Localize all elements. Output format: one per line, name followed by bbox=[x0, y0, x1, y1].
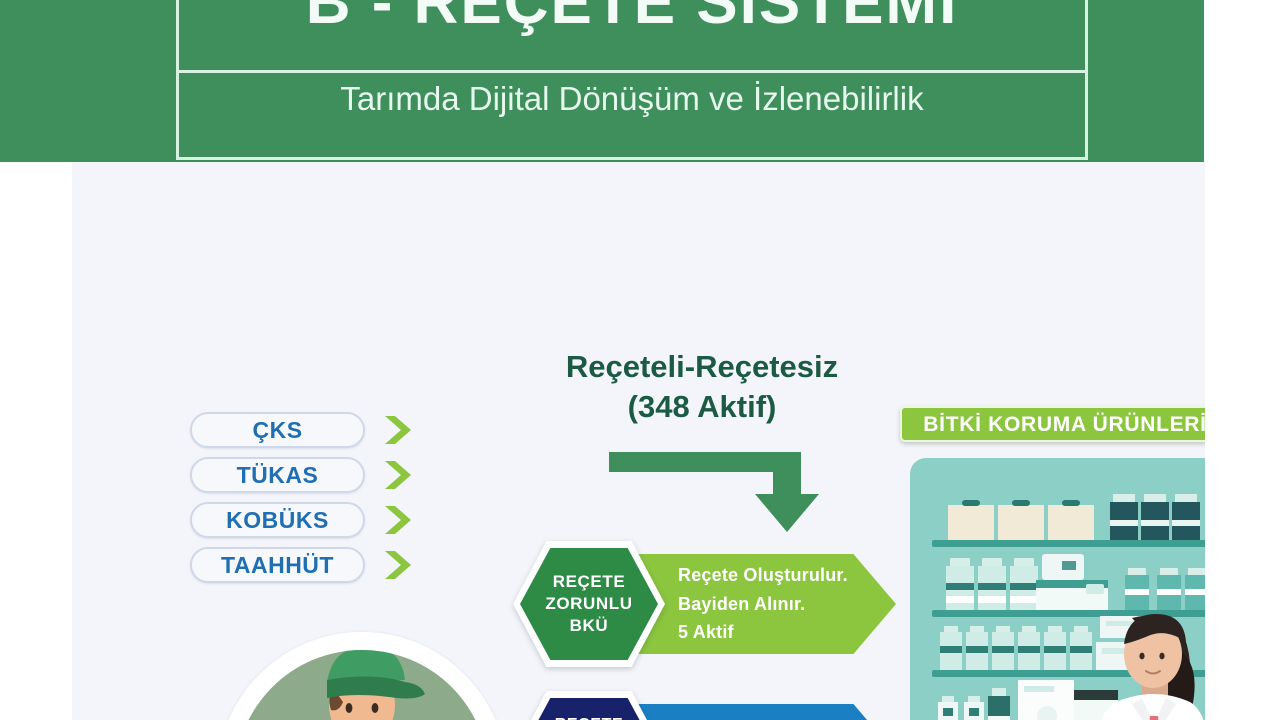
systems-pill-list: ÇKS TÜKAS KOBÜKS bbox=[190, 412, 440, 592]
content-area: ÇKS TÜKAS KOBÜKS bbox=[72, 162, 1205, 720]
farmer-svg bbox=[217, 632, 507, 720]
list-item[interactable]: TÜKAS bbox=[190, 457, 440, 495]
flow-banner-body: Reçete Oluşturulur. Bayiden Alınır. 5 Ak… bbox=[630, 554, 896, 654]
badge-line: ZORUNLU bbox=[545, 593, 632, 615]
badge-line: REÇETE bbox=[548, 715, 630, 720]
header-divider-line bbox=[176, 70, 1088, 73]
center-heading: Reçeteli-Reçetesiz (348 Aktif) bbox=[472, 347, 932, 426]
header-banner: B - REÇETE SİSTEMİ Tarımda Dijital Dönüş… bbox=[0, 0, 1204, 162]
flow-banner-receteli[interactable]: Reçete Oluşturulur. Bayiden Alınır. 5 Ak… bbox=[520, 548, 900, 660]
flow-text-line: 5 Aktif bbox=[678, 618, 848, 647]
flow-badge-label: REÇETE ZORUNLU DEĞİL BKÜ bbox=[548, 715, 630, 720]
status-badge-bitki-koruma: BİTKİ KORUMA ÜRÜNLERİ bbox=[900, 406, 1205, 442]
infographic-canvas: B - REÇETE SİSTEMİ Tarımda Dijital Dönüş… bbox=[0, 0, 1280, 720]
list-item[interactable]: KOBÜKS bbox=[190, 502, 440, 540]
center-heading-line2: (348 Aktif) bbox=[472, 387, 932, 427]
farmer-with-basket-illustration bbox=[217, 632, 507, 720]
sidebar-item-tukas[interactable]: TÜKAS bbox=[190, 457, 365, 493]
chevron-right-icon bbox=[383, 549, 417, 581]
badge-line: REÇETE bbox=[545, 571, 632, 593]
page-title: B - REÇETE SİSTEMİ bbox=[176, 0, 1088, 34]
flow-badge-hexagon: REÇETE ZORUNLU BKÜ bbox=[520, 548, 658, 660]
flow-badge-label: REÇETE ZORUNLU BKÜ bbox=[545, 571, 632, 636]
flow-text-line: Bayiden Alınır. bbox=[678, 590, 848, 619]
chevron-right-icon bbox=[383, 414, 417, 446]
chevron-right-icon bbox=[383, 504, 417, 536]
status-badge-label: BİTKİ KORUMA ÜRÜNLERİ bbox=[923, 414, 1205, 435]
sidebar-item-label: TAAHHÜT bbox=[221, 554, 334, 577]
sidebar-item-label: TÜKAS bbox=[237, 464, 319, 487]
elbow-down-arrow-icon bbox=[605, 446, 835, 536]
center-heading-line1: Reçeteli-Reçetesiz bbox=[472, 347, 932, 387]
flow-banner-body: Bayiden Alınır. 343 Aktif bbox=[630, 704, 896, 720]
sidebar-item-label: ÇKS bbox=[252, 419, 302, 442]
pharmacy-shelves-illustration bbox=[910, 458, 1205, 720]
sidebar-item-taahhut[interactable]: TAAHHÜT bbox=[190, 547, 365, 583]
page-subtitle: Tarımda Dijital Dönüşüm ve İzlenebilirli… bbox=[176, 82, 1088, 115]
flow-banner-recetesiz[interactable]: Bayiden Alınır. 343 Aktif REÇETE ZORUNLU… bbox=[520, 698, 900, 720]
list-item[interactable]: TAAHHÜT bbox=[190, 547, 440, 585]
pharmacy-svg bbox=[910, 458, 1205, 720]
badge-line: BKÜ bbox=[545, 615, 632, 637]
list-item[interactable]: ÇKS bbox=[190, 412, 440, 450]
flow-badge-hexagon: REÇETE ZORUNLU DEĞİL BKÜ bbox=[520, 698, 658, 720]
sidebar-item-kobuks[interactable]: KOBÜKS bbox=[190, 502, 365, 538]
flow-text-line: Reçete Oluşturulur. bbox=[678, 561, 848, 590]
chevron-right-icon bbox=[383, 459, 417, 491]
sidebar-item-cks[interactable]: ÇKS bbox=[190, 412, 365, 448]
sidebar-item-label: KOBÜKS bbox=[226, 509, 329, 532]
